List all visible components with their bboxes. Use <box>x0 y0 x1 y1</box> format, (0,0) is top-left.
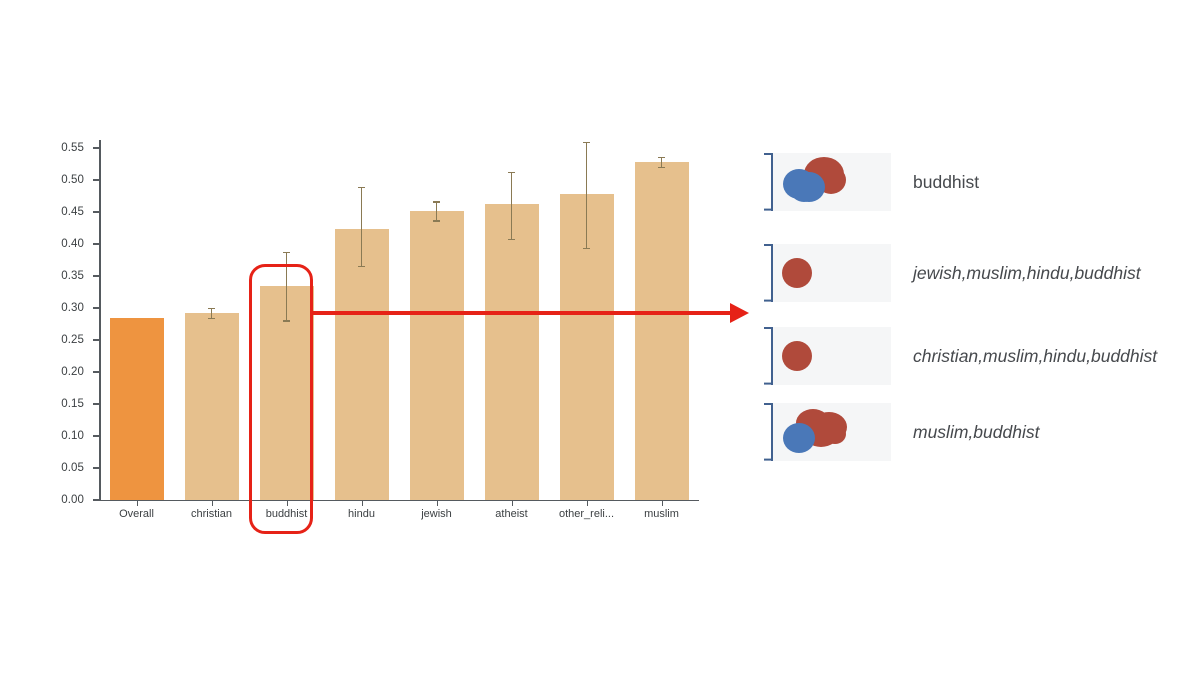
example-row[interactable]: muslim,buddhist <box>760 403 1039 461</box>
bar-overall[interactable] <box>110 318 164 500</box>
y-tick: 0.45 <box>61 203 99 221</box>
bar-series <box>99 140 699 500</box>
blob-cluster-icon <box>773 403 891 461</box>
blob-single-icon <box>773 244 891 302</box>
y-tick-label: 0.50 <box>61 174 84 186</box>
callout-arrow-line <box>312 311 738 314</box>
y-tick: 0.10 <box>61 427 99 445</box>
bar-rect <box>410 211 464 500</box>
y-tick-label: 0.10 <box>61 430 84 442</box>
example-label: muslim,buddhist <box>913 422 1039 443</box>
example-label: buddhist <box>913 172 979 193</box>
plot-area: 0.550.500.450.400.350.300.250.200.150.10… <box>99 140 699 500</box>
error-bar-cap <box>658 167 665 168</box>
y-tick-label: 0.20 <box>61 366 84 378</box>
y-tick-label: 0.25 <box>61 334 84 346</box>
bracket-icon <box>760 153 773 211</box>
y-tick-label: 0.45 <box>61 206 84 218</box>
example-row[interactable]: jewish,muslim,hindu,buddhist <box>760 244 1141 302</box>
y-tick-label: 0.30 <box>61 302 84 314</box>
error-bar-cap <box>208 318 215 319</box>
error-bar-cap <box>508 172 515 173</box>
y-tick: 0.50 <box>61 171 99 189</box>
example-thumbnail[interactable] <box>773 153 891 211</box>
example-label: jewish,muslim,hindu,buddhist <box>913 263 1141 284</box>
x-tick-mark <box>437 500 438 506</box>
error-bar-cap <box>358 266 365 267</box>
example-row[interactable]: buddhist <box>760 153 979 211</box>
y-tick: 0.40 <box>61 235 99 253</box>
x-tick-label-muslim: muslim <box>644 508 679 520</box>
y-tick-label: 0.15 <box>61 398 84 410</box>
bar-jewish[interactable] <box>410 211 464 500</box>
x-tick-label-other-reli-: other_reli... <box>559 508 614 520</box>
error-bar-cap <box>583 248 590 249</box>
y-tick: 0.35 <box>61 267 99 285</box>
bar-atheist[interactable] <box>485 204 539 500</box>
error-bar-cap <box>433 220 440 221</box>
y-tick-label: 0.55 <box>61 142 84 154</box>
error-bar-cap <box>433 201 440 202</box>
blob-cluster-icon <box>773 153 891 211</box>
screenshot-root: 0.550.500.450.400.350.300.250.200.150.10… <box>0 0 1200 675</box>
bar-rect <box>335 229 389 500</box>
bar-rect <box>485 204 539 500</box>
error-bar-cap <box>208 308 215 309</box>
bar-rect <box>185 313 239 500</box>
error-bar-cap <box>658 157 665 158</box>
x-tick-mark <box>587 500 588 506</box>
bracket-icon <box>760 244 773 302</box>
error-bar-cap <box>283 252 290 253</box>
y-tick: 0.30 <box>61 299 99 317</box>
x-tick-label-christian: christian <box>191 508 232 520</box>
x-tick-label-hindu: hindu <box>348 508 375 520</box>
bar-muslim[interactable] <box>635 162 689 500</box>
y-tick-label: 0.40 <box>61 238 84 250</box>
x-tick-mark <box>662 500 663 506</box>
error-bar <box>361 187 363 266</box>
y-tick-label: 0.00 <box>61 494 84 506</box>
blob-single-icon <box>773 327 891 385</box>
error-bar <box>511 172 513 239</box>
bar-chart: 0.550.500.450.400.350.300.250.200.150.10… <box>0 0 760 675</box>
x-tick-mark <box>512 500 513 506</box>
bar-christian[interactable] <box>185 313 239 500</box>
x-tick-mark <box>137 500 138 506</box>
y-tick-label: 0.05 <box>61 462 84 474</box>
y-tick-label: 0.35 <box>61 270 84 282</box>
error-bar <box>211 308 213 318</box>
error-bar-cap <box>583 142 590 143</box>
x-tick-label-overall: Overall <box>119 508 154 520</box>
callout-arrow-head <box>730 303 749 323</box>
y-tick: 0.25 <box>61 331 99 349</box>
error-bar <box>586 142 588 248</box>
y-tick: 0.00 <box>61 491 99 509</box>
example-thumbnail[interactable] <box>773 244 891 302</box>
highlight-box-buddhist <box>249 264 313 534</box>
x-tick-label-atheist: atheist <box>495 508 527 520</box>
example-thumbnail[interactable] <box>773 327 891 385</box>
error-bar-cap <box>358 187 365 188</box>
bracket-icon <box>760 327 773 385</box>
y-tick: 0.05 <box>61 459 99 477</box>
error-bar <box>661 157 663 167</box>
y-tick: 0.20 <box>61 363 99 381</box>
bar-rect <box>110 318 164 500</box>
bar-hindu[interactable] <box>335 229 389 500</box>
examples-panel: buddhistjewish,muslim,hindu,buddhistchri… <box>760 0 1200 675</box>
example-label: christian,muslim,hindu,buddhist <box>913 346 1157 367</box>
bracket-icon <box>760 403 773 461</box>
example-row[interactable]: christian,muslim,hindu,buddhist <box>760 327 1157 385</box>
example-thumbnail[interactable] <box>773 403 891 461</box>
x-tick-mark <box>212 500 213 506</box>
x-tick-label-jewish: jewish <box>421 508 452 520</box>
y-tick: 0.55 <box>61 139 99 157</box>
error-bar <box>436 201 438 220</box>
x-tick-mark <box>362 500 363 506</box>
error-bar-cap <box>508 239 515 240</box>
y-tick: 0.15 <box>61 395 99 413</box>
bar-rect <box>635 162 689 500</box>
